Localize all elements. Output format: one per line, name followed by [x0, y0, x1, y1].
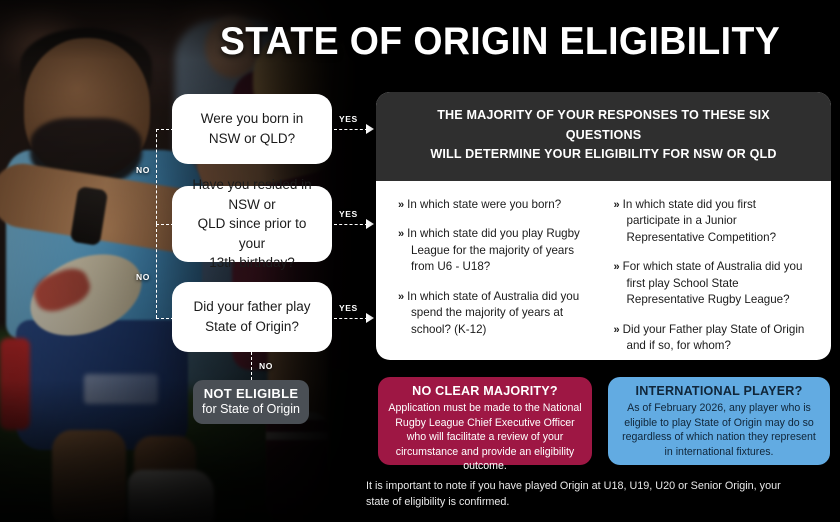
yes-connector-q3: [334, 318, 368, 319]
questions-column-right: »In which state did you first participat…: [614, 197, 812, 360]
chevron-double-right-icon: »: [614, 324, 618, 336]
panel-body: »In which state were you born? »In which…: [376, 181, 831, 360]
decision-box-father-played-origin[interactable]: Did your father play State of Origin?: [172, 282, 332, 352]
no-connector-q3-down: [251, 352, 252, 380]
yes-arrowhead-q2: [366, 219, 374, 229]
question-item: »For which state of Australia did you fi…: [614, 259, 812, 309]
chevron-double-right-icon: »: [614, 199, 618, 211]
question-item: »Did your Father play State of Origin an…: [614, 322, 812, 355]
yes-connector-q1: [334, 129, 368, 130]
no-label-q3: NO: [259, 361, 273, 371]
yes-label-q2: YES: [339, 209, 358, 219]
decision-box-3-line-1: Did your father play: [193, 299, 310, 314]
chevron-double-right-icon: »: [614, 261, 618, 273]
international-player-card: INTERNATIONAL PLAYER? As of February 202…: [608, 377, 830, 465]
questions-column-left: »In which state were you born? »In which…: [398, 197, 596, 360]
no-connector-q2-down: [156, 224, 157, 318]
page-title: STATE OF ORIGIN ELIGIBILITY: [183, 20, 817, 64]
chevron-double-right-icon: »: [398, 291, 402, 303]
decision-box-2-line-2: QLD since prior to your: [198, 216, 307, 251]
decision-box-2-line-1: Have you resided in NSW or: [192, 177, 311, 212]
question-text: In which state did you first participate…: [623, 198, 776, 244]
decision-box-2-line-3: 13th birthday?: [209, 255, 295, 270]
no-connector-q1-down: [156, 129, 157, 224]
no-label-q1: NO: [136, 165, 150, 175]
question-item: »In which state did you first participat…: [614, 197, 812, 247]
no-clear-majority-card: NO CLEAR MAJORITY? Application must be m…: [378, 377, 592, 465]
panel-header-line-1: THE MAJORITY OF YOUR RESPONSES TO THESE …: [402, 106, 805, 145]
question-text: For which state of Australia did you fir…: [623, 260, 803, 306]
no-clear-majority-body: Application must be made to the National…: [388, 401, 582, 474]
decision-box-resided-nsw-qld[interactable]: Have you resided in NSW or QLD since pri…: [172, 186, 332, 262]
six-questions-panel: THE MAJORITY OF YOUR RESPONSES TO THESE …: [376, 92, 831, 360]
international-player-title: INTERNATIONAL PLAYER?: [618, 384, 820, 398]
chevron-double-right-icon: »: [398, 199, 402, 211]
decision-box-born-in-nsw-qld[interactable]: Were you born in NSW or QLD?: [172, 94, 332, 164]
question-text: In which state were you born?: [407, 198, 561, 211]
footer-note: It is important to note if you have play…: [366, 478, 786, 510]
not-eligible-subtitle: for State of Origin: [193, 402, 309, 418]
yes-arrowhead-q1: [366, 124, 374, 134]
international-player-body: As of February 2026, any player who is e…: [618, 401, 820, 459]
no-label-q2: NO: [136, 272, 150, 282]
yes-connector-q2: [334, 224, 368, 225]
decision-box-3-line-2: State of Origin?: [205, 319, 299, 334]
chevron-double-right-icon: »: [398, 228, 402, 240]
question-text: In which state of Australia did you spen…: [407, 290, 579, 336]
not-eligible-title: NOT ELIGIBLE: [193, 386, 309, 402]
panel-header-line-2: WILL DETERMINE YOUR ELIGIBILITY FOR NSW …: [402, 145, 805, 165]
no-clear-majority-title: NO CLEAR MAJORITY?: [388, 384, 582, 398]
question-text: Did your Father play State of Origin and…: [623, 323, 805, 353]
yes-label-q1: YES: [339, 114, 358, 124]
yes-label-q3: YES: [339, 303, 358, 313]
decision-box-1-line-1: Were you born in: [201, 111, 304, 126]
question-item: »In which state were you born?: [398, 197, 596, 214]
not-eligible-box: NOT ELIGIBLE for State of Origin: [193, 380, 309, 424]
yes-arrowhead-q3: [366, 313, 374, 323]
decision-box-1-line-2: NSW or QLD?: [209, 131, 295, 146]
question-item: »In which state did you play Rugby Leagu…: [398, 226, 596, 276]
panel-header: THE MAJORITY OF YOUR RESPONSES TO THESE …: [376, 92, 831, 181]
question-text: In which state did you play Rugby League…: [407, 227, 580, 273]
infographic-page: STATE OF ORIGIN ELIGIBILITY NO NO NO YES…: [0, 0, 840, 522]
question-item: »In which state of Australia did you spe…: [398, 289, 596, 339]
